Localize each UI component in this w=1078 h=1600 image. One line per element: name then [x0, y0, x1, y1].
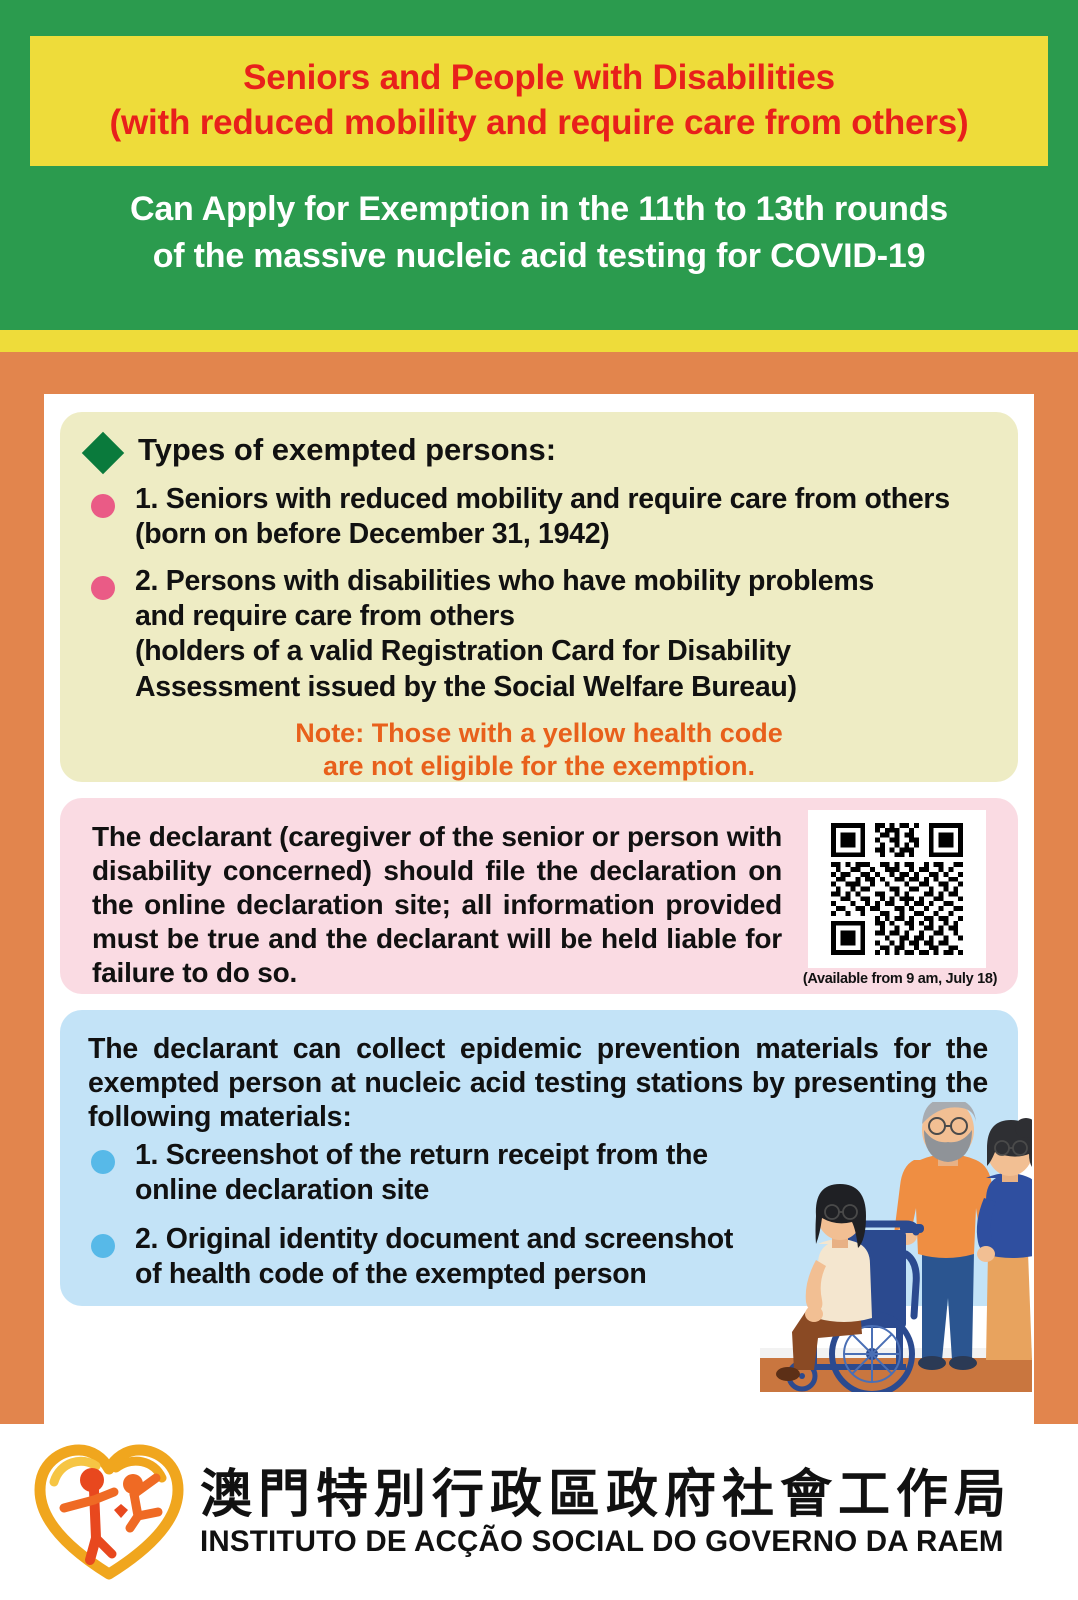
exempted-item-2-text: 2. Persons with disabilities who have mo… [135, 564, 874, 704]
collection-item-2-line-1: 2. Original identity document and screen… [135, 1222, 733, 1257]
exemption-note-line-2: are not eligible for the exemption. [74, 750, 1004, 784]
footer-org-names: 澳門特別行政區政府社會工作局 INSTITUTO DE ACÇÃO SOCIAL… [200, 1466, 1012, 1559]
list-item: 2. Original identity document and screen… [74, 1222, 834, 1292]
updated-date-label: Updated on July 18, 2022 [118, 1353, 460, 1386]
exempted-item-1-line-2: (born on before December 31, 1942) [135, 517, 950, 552]
list-item: 1. Screenshot of the return receipt from… [74, 1138, 834, 1208]
list-item: 2. Persons with disabilities who have mo… [74, 564, 1004, 704]
exempted-heading-label: Types of exempted persons: [138, 428, 556, 470]
declaration-card: The declarant (caregiver of the senior o… [60, 798, 1018, 994]
exempted-heading-row: Types of exempted persons: [74, 428, 1004, 470]
exemption-note-line-1: Note: Those with a yellow health code [74, 717, 1004, 751]
footer-bar: 澳門特別行政區政府社會工作局 INSTITUTO DE ACÇÃO SOCIAL… [0, 1424, 1078, 1600]
poster-title-line-2: (with reduced mobility and require care … [110, 101, 969, 146]
content-panel: Types of exempted persons: 1. Seniors wi… [44, 394, 1034, 1600]
poster-subtitle-line-2: of the massive nucleic acid testing for … [0, 233, 1078, 280]
exempted-item-2-line-4: Assessment issued by the Social Welfare … [135, 670, 874, 705]
exempted-item-1-text: 1. Seniors with reduced mobility and req… [135, 482, 950, 552]
exempted-item-2-line-2: and require care from others [135, 599, 874, 634]
ias-heart-logo-icon [34, 1442, 184, 1582]
exempted-items-list: 1. Seniors with reduced mobility and req… [74, 482, 1004, 704]
yellow-divider-strip [0, 330, 1078, 352]
collection-items-list: 1. Screenshot of the return receipt from… [74, 1138, 834, 1306]
qr-code-icon[interactable] [808, 810, 986, 968]
blue-dot-bullet-icon [91, 1234, 115, 1258]
pink-dot-bullet-icon [91, 494, 115, 518]
list-item: 1. Seniors with reduced mobility and req… [74, 482, 1004, 552]
exemption-note: Note: Those with a yellow health code ar… [74, 717, 1004, 785]
collection-card: The declarant can collect epidemic preve… [60, 1010, 1018, 1306]
declaration-body-text: The declarant (caregiver of the senior o… [92, 820, 782, 989]
diamond-bullet-icon [82, 432, 124, 474]
exempted-persons-card: Types of exempted persons: 1. Seniors wi… [60, 412, 1018, 782]
exempted-item-1-line-1: 1. Seniors with reduced mobility and req… [135, 482, 950, 517]
poster-root: Seniors and People with Disabilities (wi… [0, 0, 1078, 1600]
poster-subtitle-line-1: Can Apply for Exemption in the 11th to 1… [0, 186, 1078, 233]
poster-body: Types of exempted persons: 1. Seniors wi… [0, 352, 1078, 1424]
exempted-item-2-line-1: 2. Persons with disabilities who have mo… [135, 564, 874, 599]
pink-dot-bullet-icon [91, 576, 115, 600]
collection-item-1-text: 1. Screenshot of the return receipt from… [135, 1138, 708, 1208]
footer-chinese-name: 澳門特別行政區政府社會工作局 [200, 1466, 1012, 1524]
qr-availability-caption: (Available from 9 am, July 18) [800, 971, 1000, 987]
header-banner: Seniors and People with Disabilities (wi… [0, 0, 1078, 330]
collection-item-1-line-2: online declaration site [135, 1173, 708, 1208]
footer-portuguese-name: INSTITUTO DE ACÇÃO SOCIAL DO GOVERNO DA … [200, 1526, 1012, 1558]
title-highlight-box: Seniors and People with Disabilities (wi… [30, 36, 1048, 166]
exempted-item-2-line-3: (holders of a valid Registration Card fo… [135, 634, 874, 669]
collection-item-1-line-1: 1. Screenshot of the return receipt from… [135, 1138, 708, 1173]
collection-item-2-line-2: of health code of the exempted person [135, 1257, 733, 1292]
collection-item-2-text: 2. Original identity document and screen… [135, 1222, 733, 1292]
collection-intro-text: The declarant can collect epidemic preve… [88, 1032, 988, 1135]
poster-subtitle: Can Apply for Exemption in the 11th to 1… [0, 186, 1078, 280]
blue-dot-bullet-icon [91, 1150, 115, 1174]
poster-title-line-1: Seniors and People with Disabilities [243, 56, 835, 101]
declaration-qr-block: (Available from 9 am, July 18) [800, 810, 1000, 987]
